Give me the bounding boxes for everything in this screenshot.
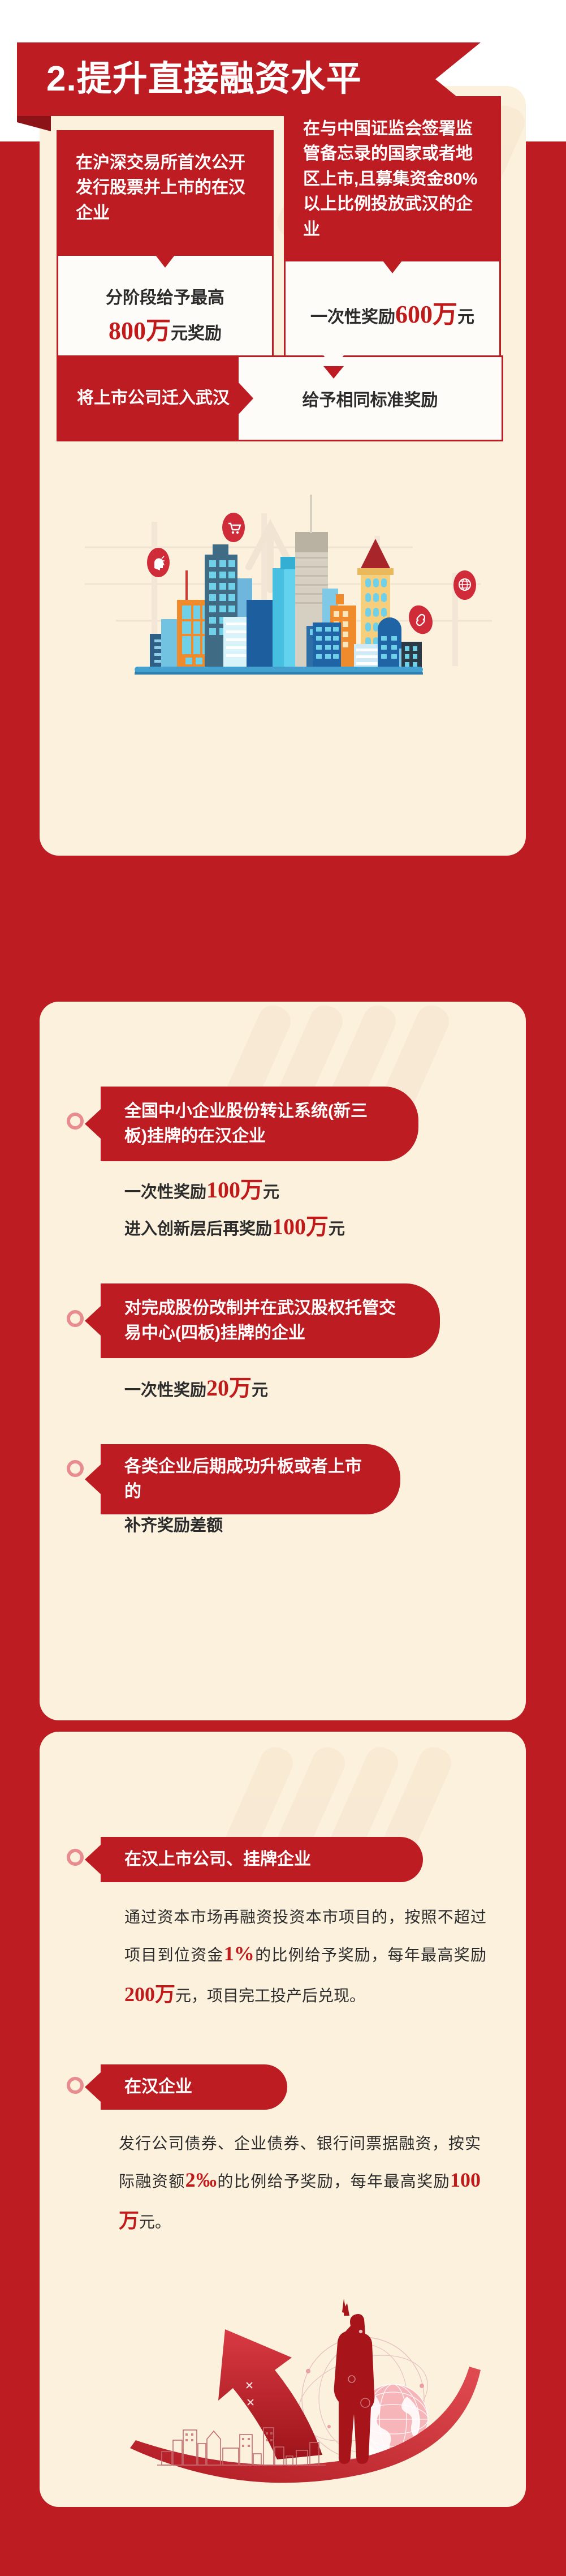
triangle-notch-icon bbox=[155, 255, 175, 268]
tag-wuhan-enterprises[interactable]: 在汉企业 bbox=[101, 2064, 287, 2110]
arrow-right-icon bbox=[239, 383, 253, 414]
reward-text-overseas-ipo: 一次性奖励600万元 bbox=[301, 295, 483, 334]
triangle-notch-icon bbox=[383, 261, 402, 273]
tag-listed-companies[interactable]: 在汉上市公司、挂牌企业 bbox=[101, 1837, 423, 1882]
para-text: 的比例给予奖励，每年最高奖励 bbox=[254, 1946, 486, 1964]
para-highlight: 2‰ bbox=[185, 2169, 218, 2191]
bullet-dot-icon bbox=[67, 1113, 84, 1130]
bullet-dot-icon bbox=[67, 1310, 84, 1327]
reward-prefix: 分阶段给予最高 bbox=[106, 289, 224, 307]
triangle-notch-icon bbox=[323, 355, 344, 368]
tag-upgrade[interactable]: 各类企业后期成功升板或者上市的 bbox=[101, 1444, 400, 1514]
para-highlight: 1% bbox=[224, 1942, 254, 1965]
para-highlight: 200万 bbox=[124, 1983, 175, 2006]
reward-amount: 100万 bbox=[206, 1177, 263, 1203]
growth-arrow-globe-businessman-illustration bbox=[107, 2292, 515, 2496]
pin-link-icon bbox=[405, 602, 437, 637]
paragraph-bonds: 发行公司债券、企业债券、银行间票据融资，按实际融资额2‰的比例给予奖励，每年最高… bbox=[119, 2128, 481, 2241]
city-skyline-illustration bbox=[62, 460, 509, 675]
reward-suffix: 元奖励 bbox=[171, 324, 222, 343]
card-listing-incentives: 在沪深交易所首次公开发行股票并上市的在汉企业 分阶段给予最高 800万元奖励 在… bbox=[40, 86, 526, 856]
reward-amount: 600万 bbox=[395, 300, 457, 328]
reward-suffix: 元 bbox=[252, 1381, 268, 1399]
column-body-overseas-ipo: 一次性奖励600万元 bbox=[284, 261, 501, 367]
bullet-dot-icon bbox=[67, 1849, 84, 1866]
tag-neeq[interactable]: 全国中小企业股份转让系统(新三板)挂牌的在汉企业 bbox=[101, 1087, 418, 1161]
reward-amount: 20万 bbox=[206, 1375, 252, 1401]
reward-amount: 800万 bbox=[109, 317, 171, 345]
reward-prefix: 一次性奖励 bbox=[310, 308, 395, 327]
reward-line-upgrade: 补齐奖励差额 bbox=[124, 1512, 223, 1536]
card-refinancing-incentives: 在汉上市公司、挂牌企业 通过资本市场再融资投资本市项目的，按照不超过项目到位资金… bbox=[40, 1732, 526, 2507]
relocation-condition: 将上市公司迁入武汉 bbox=[57, 355, 239, 441]
para-text: 元。 bbox=[139, 2213, 171, 2231]
reward-suffix: 元 bbox=[329, 1220, 345, 1238]
relocation-reward-label: 给予相同标准奖励 bbox=[303, 386, 438, 411]
tag-fourth-board[interactable]: 对完成股份改制并在武汉股权托管交易中心(四板)挂牌的企业 bbox=[101, 1283, 440, 1358]
header-ribbon: 2.提升直接融资水平 bbox=[17, 42, 481, 116]
relocation-condition-label: 将上市公司迁入武汉 bbox=[77, 387, 239, 411]
card-otc-board-incentives: 全国中小企业股份转让系统(新三板)挂牌的在汉企业 一次性奖励100万元 进入创新… bbox=[40, 1002, 526, 1720]
reward-prefix: 一次性奖励 bbox=[124, 1183, 206, 1201]
page-title: 2.提升直接融资水平 bbox=[17, 62, 362, 97]
column-head-domestic-ipo: 在沪深交易所首次公开发行股票并上市的在汉企业 bbox=[57, 130, 274, 256]
reward-prefix: 一次性奖励 bbox=[124, 1381, 206, 1399]
reward-prefix: 进入创新层后再奖励 bbox=[124, 1220, 272, 1238]
column-overseas-ipo: 在与中国证监会签署监管备忘录的国家或者地区上市,且募集资金80%以上比例投放武汉… bbox=[284, 96, 501, 367]
reward-line-fourth-board: 一次性奖励20万元 bbox=[124, 1369, 268, 1402]
pin-cart-icon bbox=[222, 513, 245, 542]
reward-suffix: 元 bbox=[263, 1183, 279, 1201]
reward-text-domestic-ipo: 分阶段给予最高 800万元奖励 bbox=[74, 285, 256, 350]
reward-amount: 100万 bbox=[272, 1214, 329, 1239]
column-domestic-ipo: 在沪深交易所首次公开发行股票并上市的在汉企业 分阶段给予最高 800万元奖励 bbox=[57, 130, 274, 378]
reward-line-neeq-1: 一次性奖励100万元 bbox=[124, 1171, 279, 1204]
watermark-decoration bbox=[226, 1743, 469, 1913]
ribbon-banner: 2.提升直接融资水平 bbox=[17, 42, 481, 116]
column-head-overseas-ipo: 在与中国证监会签署监管备忘录的国家或者地区上市,且募集资金80%以上比例投放武汉… bbox=[284, 96, 501, 261]
pin-head-idea-icon bbox=[147, 548, 170, 577]
reward-line-neeq-2: 进入创新层后再奖励100万元 bbox=[124, 1208, 345, 1241]
bullet-dot-icon bbox=[67, 2077, 84, 2094]
bullet-dot-icon bbox=[67, 1460, 84, 1477]
reward-prefix: 补齐奖励差额 bbox=[124, 1517, 223, 1535]
relocation-reward: 给予相同标准奖励 bbox=[239, 355, 503, 441]
paragraph-refinancing: 通过资本市场再融资投资本市项目的，按照不超过项目到位资金1%的比例给予奖励，每年… bbox=[124, 1901, 486, 2015]
pin-globe-icon bbox=[453, 570, 476, 600]
relocation-row: 将上市公司迁入武汉 给予相同标准奖励 bbox=[57, 355, 503, 441]
reward-suffix: 元 bbox=[457, 308, 474, 327]
para-text: 元，项目完工投产后兑现。 bbox=[175, 1987, 365, 2004]
para-text: 的比例给予奖励，每年最高奖励 bbox=[217, 2173, 450, 2190]
